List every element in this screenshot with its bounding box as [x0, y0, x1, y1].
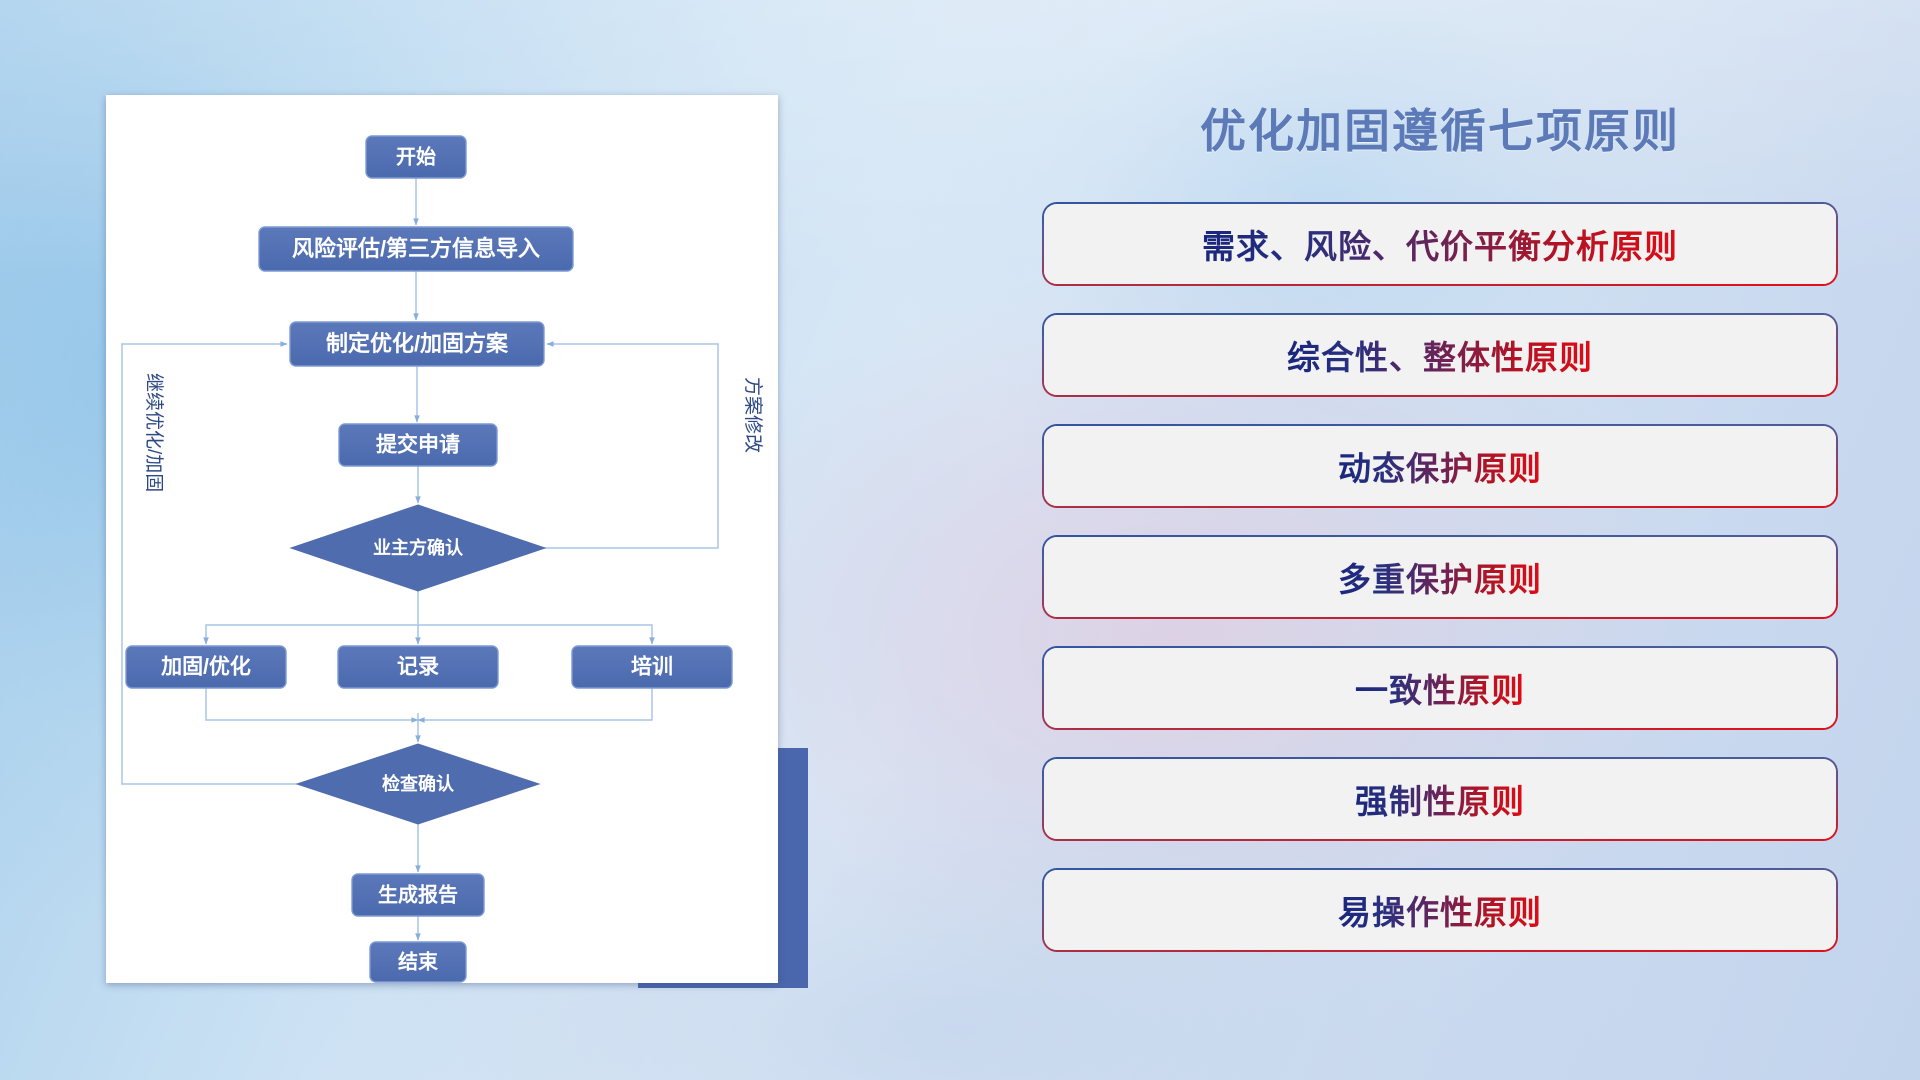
principle-card-5[interactable]: 一致性原则	[1044, 648, 1836, 728]
page-title: 优化加固遵循七项原则	[1020, 108, 1860, 154]
principle-card-4[interactable]: 多重保护原则	[1044, 537, 1836, 617]
flowchart-diagram: 开始 风险评估/第三方信息导入 制定优化/加固方案 提交申请 业主方确认 加固/…	[106, 95, 778, 983]
principle-card-3-label: 动态保护原则	[1338, 442, 1542, 490]
node-plan-label: 制定优化/加固方案	[326, 331, 509, 356]
node-report-label: 生成报告	[378, 882, 458, 906]
principles-list: 需求、风险、代价平衡分析原则 综合性、整体性原则 动态保护原则 多重保护原则 一…	[1020, 204, 1860, 950]
node-start[interactable]: 开始	[366, 136, 466, 178]
principle-card-7[interactable]: 易操作性原则	[1044, 870, 1836, 950]
node-check-confirm-label: 检查确认	[382, 773, 455, 794]
node-training[interactable]: 培训	[572, 646, 732, 688]
edge-training-merge	[418, 688, 652, 720]
principle-card-6-label: 强制性原则	[1355, 775, 1525, 823]
principle-card-2-label: 综合性、整体性原则	[1287, 331, 1593, 379]
edge-label-plan-revision: 方案修改	[742, 377, 764, 453]
edge-reinforce-merge	[206, 688, 418, 720]
node-end[interactable]: 结束	[370, 942, 466, 982]
node-submit[interactable]: 提交申请	[339, 424, 497, 466]
principle-card-4-label: 多重保护原则	[1338, 553, 1542, 601]
edge-label-continue-optimize: 继续优化/加固	[143, 373, 165, 492]
node-check-confirm[interactable]: 检查确认	[297, 744, 539, 824]
node-submit-label: 提交申请	[376, 433, 460, 457]
node-reinforce-label: 加固/优化	[160, 655, 251, 679]
principle-card-2[interactable]: 综合性、整体性原则	[1044, 315, 1836, 395]
node-record[interactable]: 记录	[338, 646, 498, 688]
node-owner-confirm[interactable]: 业主方确认	[291, 505, 545, 591]
node-assess[interactable]: 风险评估/第三方信息导入	[259, 227, 573, 271]
flowchart-card: 开始 风险评估/第三方信息导入 制定优化/加固方案 提交申请 业主方确认 加固/…	[106, 95, 778, 983]
principle-card-5-label: 一致性原则	[1355, 664, 1525, 712]
node-assess-label: 风险评估/第三方信息导入	[292, 236, 540, 261]
node-end-label: 结束	[398, 949, 439, 973]
node-owner-confirm-label: 业主方确认	[373, 537, 464, 558]
edge-owner-to-training	[418, 625, 652, 644]
node-plan[interactable]: 制定优化/加固方案	[290, 322, 544, 366]
edge-owner-to-reinforce	[206, 625, 418, 644]
principle-card-3[interactable]: 动态保护原则	[1044, 426, 1836, 506]
principle-card-1[interactable]: 需求、风险、代价平衡分析原则	[1044, 204, 1836, 284]
node-start-label: 开始	[396, 144, 436, 168]
principle-card-6[interactable]: 强制性原则	[1044, 759, 1836, 839]
node-record-label: 记录	[397, 656, 439, 679]
node-report[interactable]: 生成报告	[352, 874, 484, 916]
node-training-label: 培训	[631, 655, 673, 679]
node-reinforce[interactable]: 加固/优化	[126, 646, 286, 688]
principles-panel: 优化加固遵循七项原则 需求、风险、代价平衡分析原则 综合性、整体性原则 动态保护…	[1020, 70, 1860, 1030]
principle-card-7-label: 易操作性原则	[1338, 886, 1542, 934]
principle-card-1-label: 需求、风险、代价平衡分析原则	[1202, 220, 1678, 268]
